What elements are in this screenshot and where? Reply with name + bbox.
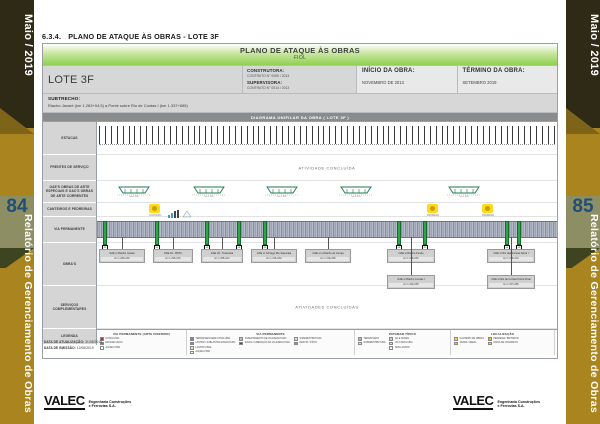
legend-label: CONCLUÍDO xyxy=(106,338,120,340)
update-date-line: DATA DE ATUALIZAÇÃO: 31/05/2019 xyxy=(44,340,102,344)
stake-tick xyxy=(229,126,230,144)
obra-box-title: OAE s/ Córrego Rio Sapucaia xyxy=(253,252,295,255)
legend-label: EM EXECUÇÃO xyxy=(106,342,123,344)
row-label-servicos: SERVIÇOS COMPLEMENTARES xyxy=(43,286,96,329)
bridge-km-label: km 1.286 xyxy=(117,196,151,198)
row-label-column: ESTACAS FRENTES DE SERVIÇO OAE'S OBRAS D… xyxy=(43,122,97,345)
stake-tick xyxy=(436,126,437,144)
stake-tick xyxy=(524,126,525,144)
valec-tagline-right-line2: e Ferrovias S.A. xyxy=(497,404,540,409)
stake-tick xyxy=(199,126,200,144)
legend-item: SUPERESTRUTURA xyxy=(294,337,321,341)
stake-tick xyxy=(152,126,153,144)
legend-swatch xyxy=(190,351,194,355)
legend-item: JAZIDA / AREAL xyxy=(454,342,484,346)
legend-item: SOLDA / LIBERAÇÃO DA VIA EXECUTADA xyxy=(239,342,290,346)
diagram-label-strip: DIAGRAMA UNIFILAR DA OBRA ( LOTE 3F ) xyxy=(43,113,557,122)
stake-tick xyxy=(459,126,460,144)
stake-tick xyxy=(477,126,478,144)
construtora-block: CONSTRUTORA: CONTRATO N° 0069 / 2013 xyxy=(247,68,352,78)
site-marker-glyph xyxy=(149,204,160,213)
valec-tagline-left-line2: e Ferrovias S.A. xyxy=(89,404,132,409)
stake-tick xyxy=(394,126,395,144)
legend-item: VIA CONCLUÍDA xyxy=(389,342,412,346)
legend-column: PEDREIRA / BRITADORUSINA DE CONCRETO xyxy=(488,337,519,346)
stake-tick xyxy=(406,126,407,144)
sheet-meta: DATA DE ATUALIZAÇÃO: 31/05/2019 DATA DE … xyxy=(44,340,102,351)
legend-label: PEDREIRA / BRITADOR xyxy=(493,338,518,340)
emission-date-line: DATA DE EMISSÃO: 12/06/2019 xyxy=(44,346,102,350)
legend-items: TERRAPLENOSUPERESTRUTURAAC E SUPER.VIA C… xyxy=(358,337,447,351)
obra-box-km: km 1.283+045 xyxy=(101,257,143,261)
valec-wordmark-left: VALEC xyxy=(44,394,85,410)
site-marker-glyph xyxy=(482,204,493,213)
stake-tick xyxy=(329,126,330,144)
obra-connector xyxy=(173,237,174,249)
legend-group: LOCALIZAÇÃOCANTEIRO DE OBRASJAZIDA / ARE… xyxy=(451,330,555,355)
legend-item: LASTRO / SUBLASTRO EXECUTADO xyxy=(190,342,235,346)
legend-swatch xyxy=(358,342,362,346)
bridge-symbol: km 1.315 xyxy=(339,185,373,198)
update-date-value: 31/05/2019 xyxy=(85,340,102,344)
stake-tick xyxy=(383,126,384,144)
bridge-km-label: km 1.328 xyxy=(447,196,481,198)
stake-tick xyxy=(253,126,254,144)
lote-value: LOTE 3F xyxy=(48,74,94,86)
bridge-symbol: km 1.328 xyxy=(447,185,481,198)
stake-tick xyxy=(483,126,484,144)
legend-column: TERRAPLENOSUPERESTRUTURA xyxy=(358,337,385,351)
stake-tick xyxy=(312,126,313,144)
obra-box-title: OAE s/ Riacho Contas I xyxy=(389,278,433,281)
legend-column: SUPERESTRUTURADESVIO / PÁTIO xyxy=(294,337,321,346)
legend-column: CONCLUÍDOEM EXECUÇÃOA EXECUTAR xyxy=(100,337,122,351)
stake-tick xyxy=(471,126,472,144)
legend-column: LASTRO FINALA EXECUTAR xyxy=(190,346,212,355)
valec-tagline-left: Engenharia Construções e Ferrovias S.A. xyxy=(89,400,132,410)
stake-tick xyxy=(306,126,307,144)
legend-label: A EXECUTAR xyxy=(196,351,210,353)
diagram-label: DIAGRAMA UNIFILAR DA OBRA ( LOTE 3F ) xyxy=(251,115,349,120)
subtrecho-value: Riacho Jacaré (km 1.283+04,5) a Ponte so… xyxy=(48,103,552,108)
legend-label: USINA DE CONCRETO xyxy=(493,342,517,344)
legend-group-title: PATAMAR TÍPICO xyxy=(358,332,447,336)
valec-wordmark-right: VALEC xyxy=(453,394,494,410)
legend-swatch xyxy=(488,337,492,341)
obra-box-title: OAE s/ Rio de Contas Ponte Final xyxy=(489,278,533,281)
stake-tick xyxy=(134,126,135,144)
diagram-plot-column: ATIVIDADE CONCLUÍDA km 1.286km 1.295km 1… xyxy=(97,122,557,345)
margin-report-title-right: Relatório de Gerenciamento de Obras xyxy=(588,214,600,424)
end-date-value: SETEMBRO 2019 xyxy=(463,80,553,85)
valec-logo-left: VALEC Engenharia Construções e Ferrovias… xyxy=(44,394,131,410)
bridge-km-label: km 1.315 xyxy=(339,196,373,198)
obra-box-title: OAE s/ Riacho Jacaré xyxy=(101,252,143,255)
stake-tick xyxy=(365,126,366,144)
legend-item: TERRAPLENAGEM CONCLUÍDA xyxy=(190,337,235,341)
bottom-note: ATIVIDADES CONCLUÍDAS xyxy=(97,305,557,310)
emission-date-value: 12/06/2019 xyxy=(77,346,94,350)
stake-tick xyxy=(170,126,171,144)
sheet-info-row: LOTE 3F CONSTRUTORA: CONTRATO N° 0069 / … xyxy=(43,66,557,94)
obra-connector xyxy=(328,237,329,249)
legend-item: TERRAPLENO xyxy=(358,337,385,341)
legend-label: ASSENTAMENTO DE VIA EXECUTADO xyxy=(245,338,287,340)
row-label-via-permanente: VIA PERMANENTE xyxy=(43,217,96,243)
legend-item: A EXECUTAR xyxy=(100,346,122,350)
supervisora-label: SUPERVISORA: xyxy=(247,80,352,85)
obra-box-km: km 1.319+080 xyxy=(307,257,349,261)
start-date-value: NOVEMBRO DE 2013 xyxy=(362,80,452,85)
bridge-symbol: km 1.286 xyxy=(117,185,151,198)
banner-subtitle: FIOL xyxy=(43,55,557,61)
stake-tick xyxy=(158,126,159,144)
legend-group: VIA PERMANENTE (ARTE INFERIOR)CONCLUÍDOE… xyxy=(97,330,187,355)
legend-label: SUPERESTRUTURA xyxy=(364,342,386,344)
stake-tick xyxy=(140,126,141,144)
legend-group: PATAMAR TÍPICOTERRAPLENOSUPERESTRUTURAAC… xyxy=(355,330,451,355)
legend-item: AC E SUPER. xyxy=(389,337,412,341)
legend-label: A EXECUTAR xyxy=(106,347,120,349)
legend-label: SOLDA / LIBERAÇÃO DA VIA EXECUTADA xyxy=(245,342,290,344)
stake-tick xyxy=(453,126,454,144)
diagram-body: ESTACAS FRENTES DE SERVIÇO OAE'S OBRAS D… xyxy=(43,122,557,345)
stake-tick xyxy=(318,126,319,144)
top-note: ATIVIDADE CONCLUÍDA xyxy=(97,165,557,170)
bridge-symbol: km 1.295 xyxy=(192,185,226,198)
stake-tick xyxy=(442,126,443,144)
frentes-row: ATIVIDADE CONCLUÍDA xyxy=(97,155,557,181)
section-heading: 6.3.4.PLANO DE ATAQUE ÀS OBRAS - LOTE 3F xyxy=(42,32,219,41)
stake-tick xyxy=(512,126,513,144)
row-label-oae: OAE'S OBRAS DE ARTE ESPECIAIS E OAC'S OB… xyxy=(43,181,96,203)
stake-tick xyxy=(123,126,124,144)
banner-title: PLANO DE ATAQUE ÀS OBRAS xyxy=(43,46,557,55)
supervisora-block: SUPERVISORA: CONTRATO N° 0014 / 2013 xyxy=(247,80,352,90)
stake-tick xyxy=(258,126,259,144)
stake-tick xyxy=(341,126,342,144)
stake-tick xyxy=(129,126,130,144)
section-title: PLANO DE ATAQUE ÀS OBRAS - LOTE 3F xyxy=(68,32,219,41)
stake-tick xyxy=(117,126,118,144)
legend-item: CANTEIRO DE OBRAS xyxy=(454,337,484,341)
legend-column: AC E SUPER.VIA CONCLUÍDASUB-LASTRO xyxy=(389,337,412,351)
stake-tick xyxy=(288,126,289,144)
legend-swatch xyxy=(454,337,458,341)
construtora-label: CONSTRUTORA: xyxy=(247,68,352,73)
stakes-group xyxy=(99,126,555,144)
legend-label: TERRAPLENO xyxy=(364,338,380,340)
legend-item: LASTRO FINAL xyxy=(190,346,212,350)
stake-tick xyxy=(111,126,112,144)
obra-box: OAE s/ Riacho Jacarékm 1.283+045 xyxy=(99,249,145,263)
legend-label: SUB-LASTRO xyxy=(395,347,410,349)
stake-tick xyxy=(536,126,537,144)
stake-tick xyxy=(300,126,301,144)
legend-label: SUPERESTRUTURA xyxy=(299,338,321,340)
contract-cell: CONSTRUTORA: CONTRATO N° 0069 / 2013 SUP… xyxy=(243,66,357,93)
footer-left: VALEC Engenharia Construções e Ferrovias… xyxy=(44,394,131,410)
legend-item: EM EXECUÇÃO xyxy=(100,342,122,346)
stake-tick xyxy=(164,126,165,144)
update-date-label: DATA DE ATUALIZAÇÃO: xyxy=(44,340,84,344)
plan-sheet: PLANO DE ATAQUE ÀS OBRAS FIOL LOTE 3F CO… xyxy=(42,43,558,359)
row-label-obras: OBRA'S xyxy=(43,243,96,286)
stake-tick xyxy=(282,126,283,144)
site-marker-icon: PEDREIRA xyxy=(427,204,439,217)
legend-label: LASTRO FINAL xyxy=(196,347,212,349)
stake-tick xyxy=(182,126,183,144)
subtrecho-row: SUBTRECHO: Riacho Jacaré (km 1.283+04,5)… xyxy=(43,94,557,113)
obra-box: OAE 03 - Travessiakm 1.305+012 xyxy=(201,249,243,263)
sheet-banner: PLANO DE ATAQUE ÀS OBRAS FIOL xyxy=(43,44,557,66)
legend-swatch xyxy=(190,342,194,346)
footer-right: VALEC Engenharia Construções e Ferrovias… xyxy=(453,394,540,410)
stake-tick xyxy=(276,126,277,144)
legend-swatch xyxy=(389,346,393,350)
stake-tick xyxy=(217,126,218,144)
obra-boxes-group: OAE s/ Riacho Jacarékm 1.283+045OAE 02 -… xyxy=(97,231,557,285)
legend-label: JAZIDA / AREAL xyxy=(460,342,477,344)
green-bars-group: 010203040506070809 xyxy=(97,227,557,228)
legend-item: USINA DE CONCRETO xyxy=(488,342,519,346)
construtora-value: CONTRATO N° 0069 / 2013 xyxy=(247,74,352,78)
site-marker-icon: PEDREIRA xyxy=(482,204,494,217)
stake-tick xyxy=(447,126,448,144)
obra-connector xyxy=(274,237,275,249)
legend-label: VIA CONCLUÍDA xyxy=(395,342,413,344)
stake-tick xyxy=(347,126,348,144)
stakes-row xyxy=(97,122,557,155)
stake-tick xyxy=(501,126,502,144)
stake-tick xyxy=(548,126,549,144)
legend-item: A EXECUTAR xyxy=(190,351,212,355)
legend-group-title: VIA PERMANENTE xyxy=(190,332,351,336)
supervisora-value: CONTRATO N° 0014 / 2013 xyxy=(247,86,352,90)
obra-connector xyxy=(222,237,223,249)
stake-tick xyxy=(424,126,425,144)
row-label-estacas: ESTACAS xyxy=(43,122,96,155)
bridge-km-label: km 1.295 xyxy=(192,196,226,198)
legend-group: VIA PERMANENTETERRAPLENAGEM CONCLUÍDALAS… xyxy=(187,330,355,355)
valec-tagline-right: Engenharia Construções e Ferrovias S.A. xyxy=(497,400,540,410)
stake-tick xyxy=(223,126,224,144)
stake-tick xyxy=(530,126,531,144)
obra-box: OAE s/ o Riacho do Corujakm 1.319+080 xyxy=(305,249,351,263)
site-marker-icon: CANTEIRO xyxy=(149,204,161,217)
legend-swatch xyxy=(358,337,362,341)
left-margin-bar: Maio / 2019 84 Relatório de Gerenciament… xyxy=(0,0,34,424)
stake-tick xyxy=(335,126,336,144)
obra-box: OAE 02 - BSTCkm 1.295+030 xyxy=(153,249,193,263)
stake-tick xyxy=(377,126,378,144)
stake-tick xyxy=(323,126,324,144)
legend-label: TERRAPLENAGEM CONCLUÍDA xyxy=(196,338,231,340)
legend-label: AC E SUPER. xyxy=(395,338,410,340)
section-number: 6.3.4. xyxy=(42,32,61,41)
stake-tick xyxy=(400,126,401,144)
right-margin-bar: Maio / 2019 85 Relatório de Gerenciament… xyxy=(566,0,600,424)
obra-connector xyxy=(411,237,412,275)
legend-column: TERRAPLENAGEM CONCLUÍDALASTRO / SUBLASTR… xyxy=(190,337,235,346)
legend-swatch xyxy=(389,337,393,341)
stake-tick xyxy=(176,126,177,144)
legend-column: CANTEIRO DE OBRASJAZIDA / AREAL xyxy=(454,337,484,346)
servicos-row: ATIVIDADES CONCLUÍDAS xyxy=(97,286,557,329)
legend-group-title: VIA PERMANENTE (ARTE INFERIOR) xyxy=(100,332,183,336)
report-page: Maio / 2019 84 Relatório de Gerenciament… xyxy=(0,0,600,424)
stake-tick xyxy=(412,126,413,144)
emission-date-label: DATA DE EMISSÃO: xyxy=(44,346,76,350)
subtrecho-label: SUBTRECHO: xyxy=(48,96,552,101)
stake-tick xyxy=(146,126,147,144)
legend-column: ASSENTAMENTO DE VIA EXECUTADOSOLDA / LIB… xyxy=(239,337,290,346)
bridge-symbol: km 1.305 xyxy=(265,185,299,198)
obra-box-km: km 1.295+030 xyxy=(155,257,191,261)
end-date-cell: TÉRMINO DA OBRA: SETEMBRO 2019 xyxy=(458,66,558,93)
start-date-label: INÍCIO DA OBRA: xyxy=(362,68,452,74)
stake-tick xyxy=(211,126,212,144)
legend-swatch xyxy=(190,346,194,350)
stake-tick xyxy=(188,126,189,144)
row-label-frentes: FRENTES DE SERVIÇO xyxy=(43,155,96,181)
lote-cell: LOTE 3F xyxy=(43,66,243,93)
stake-tick xyxy=(489,126,490,144)
stake-tick xyxy=(264,126,265,144)
stake-tick xyxy=(353,126,354,144)
legend-item: DESVIO / PÁTIO xyxy=(294,342,321,346)
stake-tick xyxy=(235,126,236,144)
oae-row: km 1.286km 1.295km 1.305km 1.315km 1.328 xyxy=(97,181,557,203)
obra-box-km: km 1.305+012 xyxy=(203,257,241,261)
legend-swatch xyxy=(389,342,393,346)
stake-tick xyxy=(105,126,106,144)
legend-item: PEDREIRA / BRITADOR xyxy=(488,337,519,341)
obra-box: OAE s/ Córrego Rio Sapucaiakm 1.315+062 xyxy=(251,249,297,263)
stakes-baseline xyxy=(99,144,555,145)
legend-label: LASTRO / SUBLASTRO EXECUTADO xyxy=(196,342,236,344)
legend-items: TERRAPLENAGEM CONCLUÍDALASTRO / SUBLASTR… xyxy=(190,337,351,355)
stake-tick xyxy=(465,126,466,144)
end-date-label: TÉRMINO DA OBRA: xyxy=(463,68,553,74)
site-marker-glyph xyxy=(427,204,438,213)
legend-swatch xyxy=(454,342,458,346)
legend-swatch xyxy=(488,342,492,346)
stake-tick xyxy=(542,126,543,144)
legend-label: DESVIO / PÁTIO xyxy=(299,342,317,344)
margin-report-title-left: Relatório de Gerenciamento de Obras xyxy=(22,214,34,424)
stake-tick xyxy=(99,126,100,144)
stake-tick xyxy=(359,126,360,144)
legend-item: ASSENTAMENTO DE VIA EXECUTADO xyxy=(239,337,290,341)
legend-swatch xyxy=(294,342,298,346)
canteiros-row: CANTEIROPEDREIRAPEDREIRA xyxy=(97,203,557,217)
stake-tick xyxy=(388,126,389,144)
stake-tick xyxy=(247,126,248,144)
legend-swatch xyxy=(294,337,298,341)
site-markers-group: CANTEIROPEDREIRAPEDREIRA xyxy=(97,203,557,216)
start-date-cell: INÍCIO DA OBRA: NOVEMBRO DE 2013 xyxy=(357,66,458,93)
bridge-symbols-group: km 1.286km 1.295km 1.305km 1.315km 1.328 xyxy=(97,181,557,202)
stake-tick xyxy=(495,126,496,144)
valec-logo-right: VALEC Engenharia Construções e Ferrovias… xyxy=(453,394,540,410)
legend-items: CANTEIRO DE OBRASJAZIDA / AREALPEDREIRA … xyxy=(454,337,551,346)
stake-tick xyxy=(371,126,372,144)
obra-connector xyxy=(122,237,123,249)
stake-tick xyxy=(554,126,555,144)
legend-row: VIA PERMANENTE (ARTE INFERIOR)CONCLUÍDOE… xyxy=(97,329,557,355)
stake-tick xyxy=(194,126,195,144)
obras-row: OAE s/ Riacho Jacarékm 1.283+045OAE 02 -… xyxy=(97,243,557,286)
legend-item: SUB-LASTRO xyxy=(389,346,412,350)
obra-connector xyxy=(511,237,512,275)
stake-tick xyxy=(418,126,419,144)
stake-tick xyxy=(270,126,271,144)
stake-tick xyxy=(241,126,242,144)
stake-tick xyxy=(507,126,508,144)
legend-item: CONCLUÍDO xyxy=(100,337,122,341)
stake-tick xyxy=(294,126,295,144)
legend-label: CANTEIRO DE OBRAS xyxy=(460,338,484,340)
legend-group-title: LOCALIZAÇÃO xyxy=(454,332,551,336)
stake-tick xyxy=(518,126,519,144)
bridge-km-label: km 1.305 xyxy=(265,196,299,198)
obra-box-km: km 1.315+062 xyxy=(253,257,295,261)
obra-box-title: OAE 02 - BSTC xyxy=(155,252,191,255)
legend-swatch xyxy=(239,342,243,346)
legend-swatch xyxy=(239,337,243,341)
obra-box-title: OAE 03 - Travessia xyxy=(203,252,241,255)
obra-box-title: OAE s/ o Riacho do Coruja xyxy=(307,252,349,255)
legend-items: CONCLUÍDOEM EXECUÇÃOA EXECUTAR xyxy=(100,337,183,351)
row-label-canteiros: CANTEIROS E PEDREIRAS xyxy=(43,203,96,217)
legend-item: SUPERESTRUTURA xyxy=(358,342,385,346)
stake-tick xyxy=(205,126,206,144)
stake-tick xyxy=(430,126,431,144)
legend-swatch xyxy=(190,337,194,341)
